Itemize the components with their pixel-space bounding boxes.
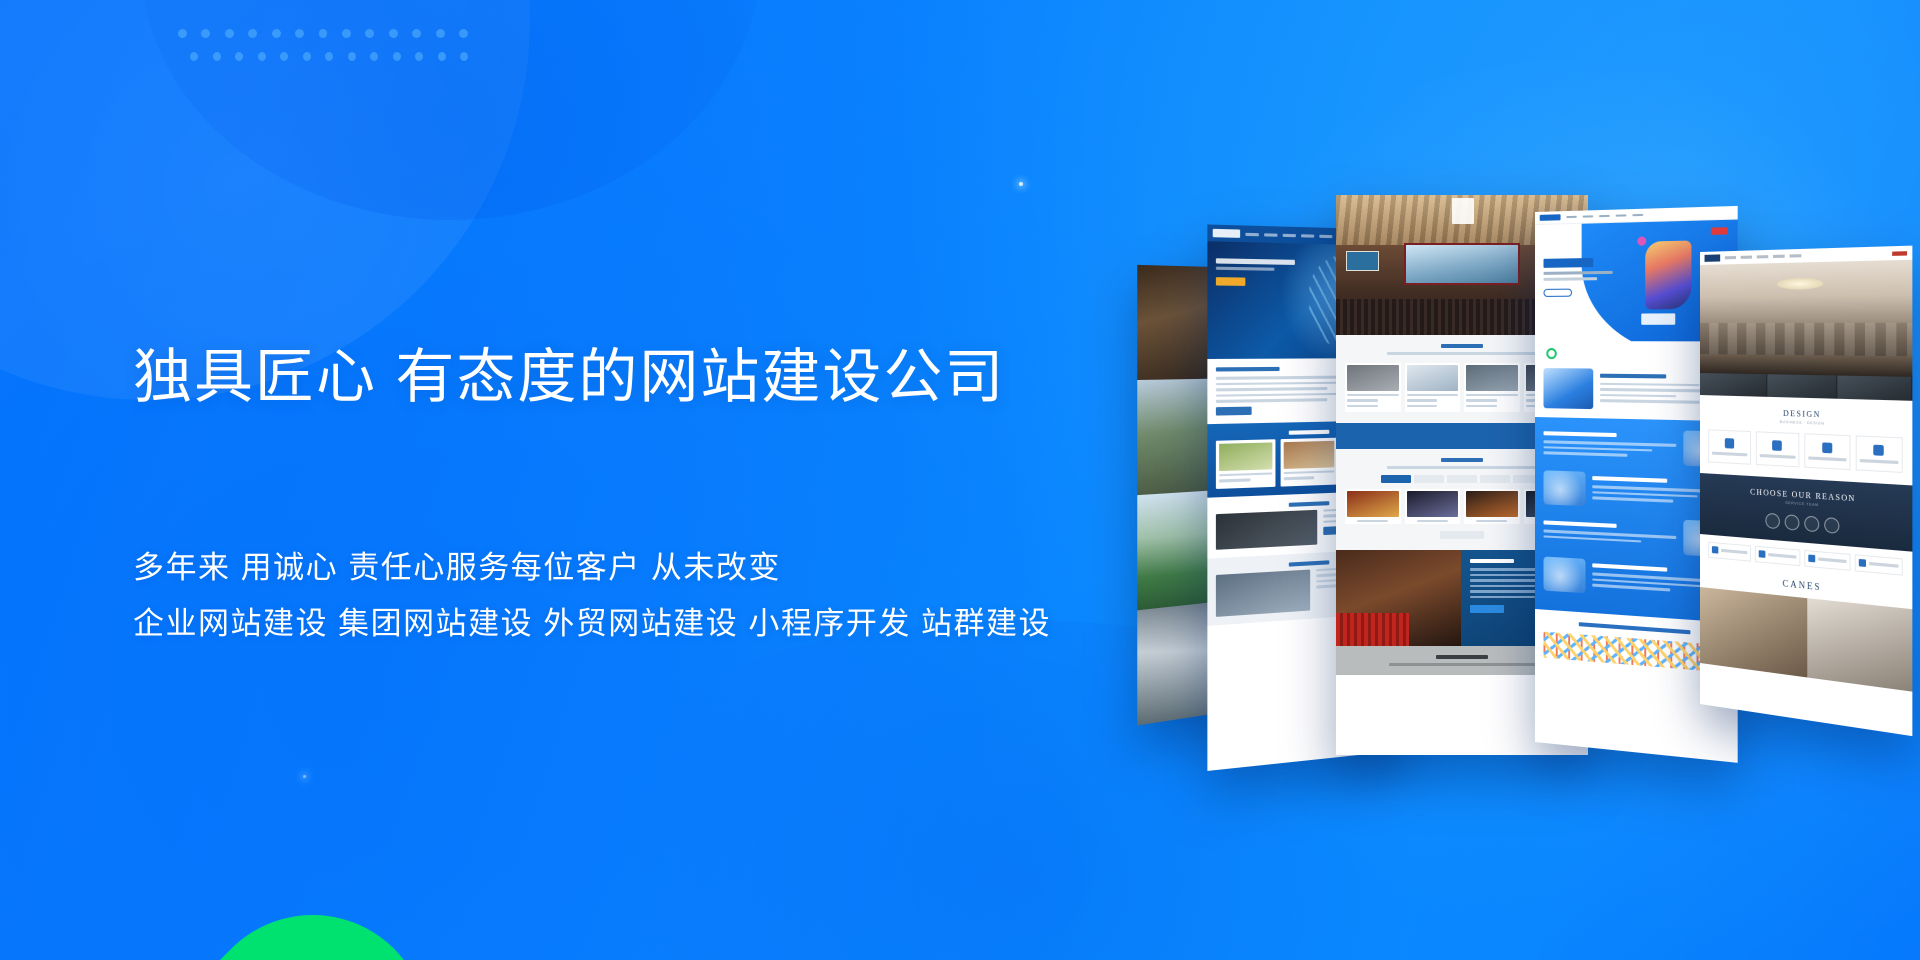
dot-row-1	[178, 22, 468, 45]
sparkle-particle-1	[1019, 182, 1023, 186]
subtitle-line-2: 企业网站建设 集团网站建设 外贸网站建设 小程序开发 站群建设	[133, 596, 1113, 652]
decor-green-circle	[1546, 348, 1556, 359]
website-mockup-fan: DESIGN BUSINESS · DESIGN CHOOSE OUR REAS…	[1140, 0, 1920, 960]
subtitle-line-1: 多年来 用诚心 责任心服务每位客户 从未改变	[133, 540, 1113, 596]
mockup-section-design: DESIGN BUSINESS · DESIGN	[1700, 395, 1912, 485]
decor-dot-grid	[178, 22, 468, 68]
page-title: 独具匠心 有态度的网站建设公司	[133, 340, 1113, 414]
banner-copy: 独具匠心 有态度的网站建设公司 多年来 用诚心 责任心服务每位客户 从未改变 企…	[133, 340, 1113, 652]
decor-green-shape	[150, 867, 475, 960]
mockup-screen-interior-design[interactable]: DESIGN BUSINESS · DESIGN CHOOSE OUR REAS…	[1700, 246, 1912, 737]
hero-banner: 独具匠心 有态度的网站建设公司 多年来 用诚心 责任心服务每位客户 从未改变 企…	[0, 0, 1920, 960]
sparkle-particle-2	[303, 775, 306, 778]
subtitle-group: 多年来 用诚心 责任心服务每位客户 从未改变 企业网站建设 集团网站建设 外贸网…	[133, 540, 1113, 652]
mockup-hero	[1700, 260, 1912, 377]
dot-row-2	[190, 45, 468, 68]
